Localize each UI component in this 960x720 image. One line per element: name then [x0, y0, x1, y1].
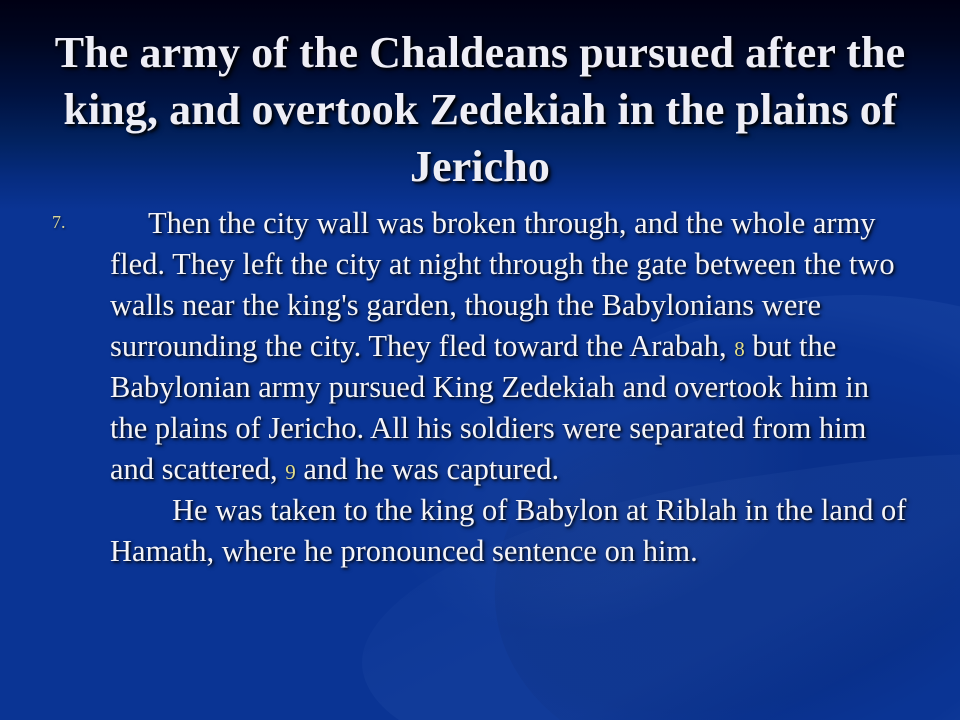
paragraph-1: Then the city wall was broken through, a…: [110, 203, 908, 490]
verse-number: 9: [285, 460, 296, 484]
slide-title: The army of the Chaldeans pursued after …: [28, 25, 932, 195]
bullet-number: 7.: [52, 203, 110, 231]
slide-body: 7. Then the city wall was broken through…: [52, 203, 908, 572]
body-text-block: Then the city wall was broken through, a…: [110, 203, 908, 572]
body-text-run: He was taken to the king of Babylon at R…: [110, 493, 906, 568]
body-text-run: and he was captured.: [296, 452, 559, 486]
paragraph-2: He was taken to the king of Babylon at R…: [110, 490, 908, 572]
verse-number: 8: [734, 337, 745, 361]
slide-canvas: The army of the Chaldeans pursued after …: [0, 0, 960, 720]
